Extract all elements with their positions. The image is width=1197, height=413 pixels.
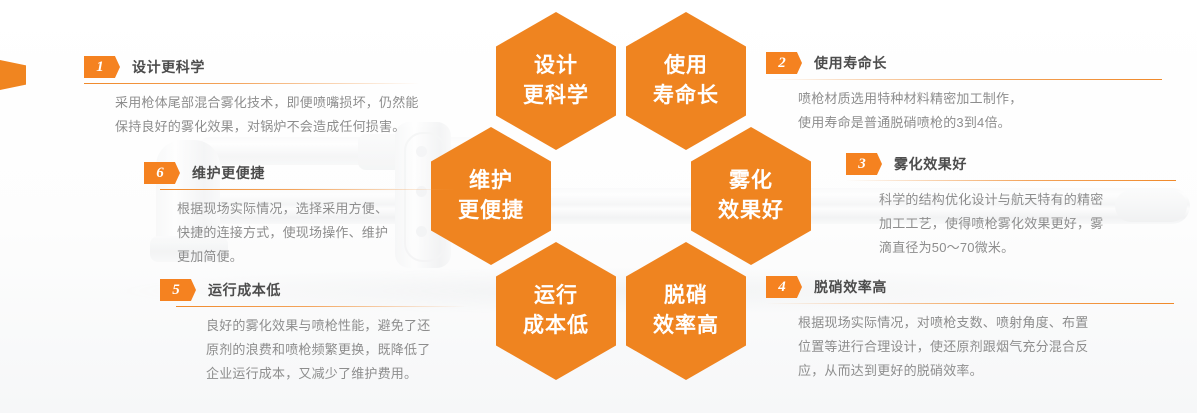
hex-cost[interactable]: 运行 成本低 <box>496 242 616 380</box>
feature-1-divider <box>84 83 420 84</box>
hex-atomization[interactable]: 雾化 效果好 <box>691 127 811 265</box>
hex-denitration-line2: 效率高 <box>653 311 719 341</box>
hex-design-line1: 设计 <box>534 51 578 81</box>
corner-wedge-left <box>0 60 26 90</box>
feature-4-body: 根据现场实际情况，对喷枪支数、喷射角度、布置 位置等进行合理设计，使还原剂跟烟气… <box>798 311 1181 383</box>
feature-4-line: 应，从而达到更好的脱硝效率。 <box>798 359 1181 383</box>
hex-design-line2: 更科学 <box>523 81 589 111</box>
feature-3-line: 科学的结构优化设计与航天特有的精密 <box>879 188 1186 212</box>
hex-maintenance-line2: 更便捷 <box>458 196 524 226</box>
feature-5-header: 5 运行成本低 <box>160 279 490 301</box>
hex-design[interactable]: 设计 更科学 <box>496 12 616 150</box>
feature-2-header: 2 使用寿命长 <box>766 52 1166 74</box>
feature-3-line: 滴直径为50～70微米。 <box>879 236 1186 260</box>
feature-6-body: 根据现场实际情况，选择采用方便、 快捷的连接方式，使现场操作、维护 更加简便。 <box>177 197 456 269</box>
feature-2-line: 喷枪材质选用特种材料精密加工制作， <box>798 87 1166 111</box>
hex-lifespan[interactable]: 使用 寿命长 <box>626 12 746 150</box>
feature-6-line: 根据现场实际情况，选择采用方便、 <box>177 197 456 221</box>
feature-6-line: 更加简便。 <box>177 245 456 269</box>
feature-4-title: 脱硝效率高 <box>814 277 887 297</box>
feature-1-title: 设计更科学 <box>132 57 205 77</box>
hex-lifespan-line1: 使用 <box>664 51 708 81</box>
feature-block-6: 6 维护更便捷 根据现场实际情况，选择采用方便、 快捷的连接方式，使现场操作、维… <box>144 162 456 269</box>
feature-block-5: 5 运行成本低 良好的雾化效果与喷枪性能，避免了还 原剂的浪费和喷枪频繁更换，既… <box>160 279 490 386</box>
number-badge-icon: 2 <box>766 52 802 74</box>
feature-3-header: 3 雾化效果好 <box>846 153 1186 175</box>
number-badge-icon: 5 <box>160 279 196 301</box>
feature-1-header: 1 设计更科学 <box>84 56 424 78</box>
feature-3-line: 加工工艺，使得喷枪雾化效果更好，雾 <box>879 212 1186 236</box>
hex-atomization-line2: 效果好 <box>718 196 784 226</box>
feature-4-divider <box>766 303 1174 304</box>
number-badge-icon: 1 <box>84 56 120 78</box>
feature-6-line: 快捷的连接方式，使现场操作、维护 <box>177 221 456 245</box>
hex-cost-line1: 运行 <box>534 281 578 311</box>
feature-2-divider <box>766 79 1162 80</box>
feature-5-line: 原剂的浪费和喷枪频繁更换，既降低了 <box>206 338 490 362</box>
feature-2-title: 使用寿命长 <box>814 53 887 73</box>
hex-maintenance-line1: 维护 <box>469 166 513 196</box>
number-badge-icon: 6 <box>144 162 180 184</box>
number-badge-icon: 3 <box>846 153 882 175</box>
feature-1-line: 采用枪体尾部混合雾化技术，即便喷嘴损坏，仍然能 <box>115 91 424 115</box>
feature-5-body: 良好的雾化效果与喷枪性能，避免了还 原剂的浪费和喷枪频繁更换，既降低了 企业运行… <box>206 314 490 386</box>
hex-cost-line2: 成本低 <box>523 311 589 341</box>
feature-4-line: 位置等进行合理设计，使还原剂跟烟气充分混合反 <box>798 335 1181 359</box>
feature-5-title: 运行成本低 <box>208 280 281 300</box>
hex-atomization-line1: 雾化 <box>729 166 773 196</box>
feature-block-4: 4 脱硝效率高 根据现场实际情况，对喷枪支数、喷射角度、布置 位置等进行合理设计… <box>766 276 1181 383</box>
feature-6-divider <box>160 189 456 190</box>
hex-denitration[interactable]: 脱硝 效率高 <box>626 242 746 380</box>
feature-3-body: 科学的结构优化设计与航天特有的精密 加工工艺，使得喷枪雾化效果更好，雾 滴直径为… <box>879 188 1186 260</box>
flange-bolt <box>416 146 427 157</box>
feature-block-3: 3 雾化效果好 科学的结构优化设计与航天特有的精密 加工工艺，使得喷枪雾化效果更… <box>846 153 1186 260</box>
feature-block-2: 2 使用寿命长 喷枪材质选用特种材料精密加工制作， 使用寿命是普通脱硝喷枪的3到… <box>766 52 1166 135</box>
feature-2-body: 喷枪材质选用特种材料精密加工制作， 使用寿命是普通脱硝喷枪的3到4倍。 <box>798 87 1166 135</box>
number-badge-icon: 4 <box>766 276 802 298</box>
feature-6-header: 6 维护更便捷 <box>144 162 456 184</box>
feature-2-line: 使用寿命是普通脱硝喷枪的3到4倍。 <box>798 111 1166 135</box>
feature-5-divider <box>176 306 466 307</box>
feature-block-1: 1 设计更科学 采用枪体尾部混合雾化技术，即便喷嘴损坏，仍然能 保持良好的雾化效… <box>84 56 424 139</box>
feature-1-body: 采用枪体尾部混合雾化技术，即便喷嘴损坏，仍然能 保持良好的雾化效果，对锅炉不会造… <box>115 91 424 139</box>
feature-3-divider <box>846 180 1176 181</box>
hex-lifespan-line2: 寿命长 <box>653 81 719 111</box>
feature-5-line: 企业运行成本，又减少了维护费用。 <box>206 362 490 386</box>
feature-3-title: 雾化效果好 <box>894 154 967 174</box>
feature-1-line: 保持良好的雾化效果，对锅炉不会造成任何损害。 <box>115 115 424 139</box>
feature-4-header: 4 脱硝效率高 <box>766 276 1181 298</box>
feature-5-line: 良好的雾化效果与喷枪性能，避免了还 <box>206 314 490 338</box>
feature-6-title: 维护更便捷 <box>192 163 265 183</box>
infographic-stage: 设计 更科学 使用 寿命长 维护 更便捷 雾化 效果好 运行 成本低 脱硝 效率… <box>0 0 1197 413</box>
hex-denitration-line1: 脱硝 <box>664 281 708 311</box>
feature-4-line: 根据现场实际情况，对喷枪支数、喷射角度、布置 <box>798 311 1181 335</box>
